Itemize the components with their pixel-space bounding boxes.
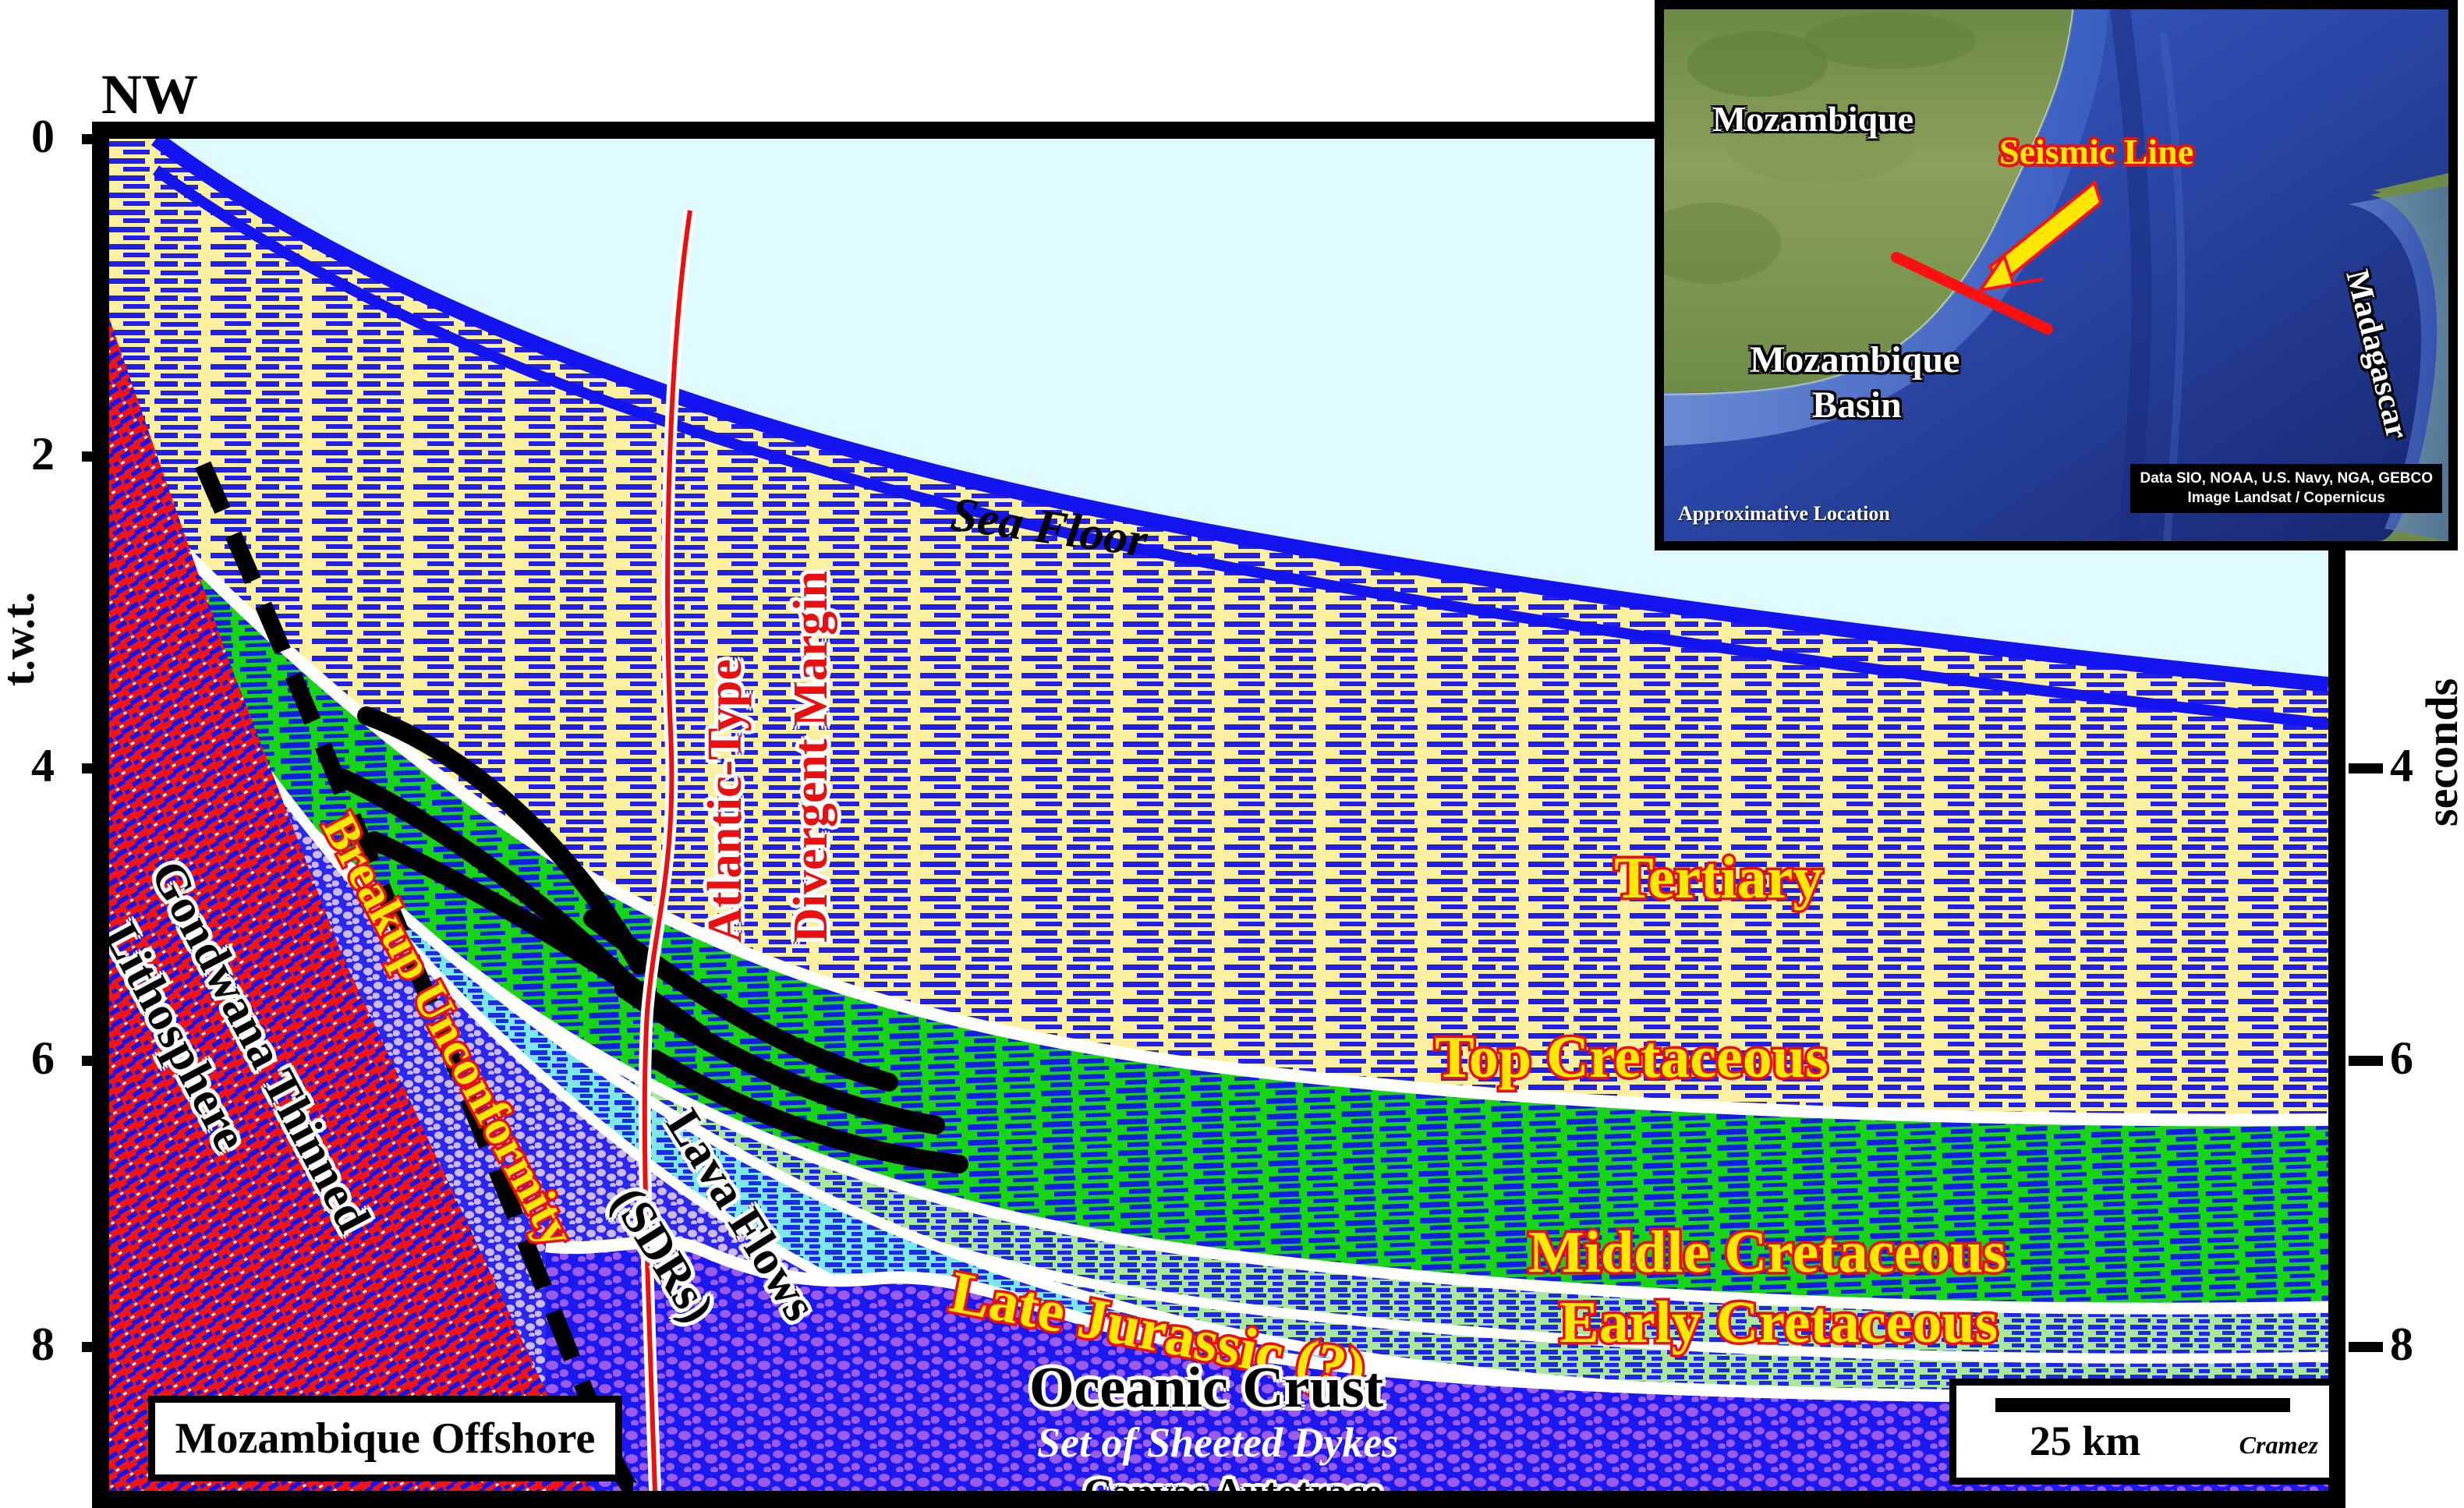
tick-label-right-6: 6 [2390, 1035, 2413, 1081]
map-attribution: Data SIO, NOAA, U.S. Navy, NGA, GEBCO Im… [2130, 464, 2442, 513]
tick-mark-right-4 [2349, 763, 2383, 773]
scale-bar-rule [1995, 1398, 2290, 1412]
tick-label-left-2: 2 [31, 430, 55, 477]
tick-label-left-6: 6 [31, 1035, 55, 1081]
tick-label-left-4: 4 [31, 742, 55, 789]
seismic-figure: NW t.w.t. seconds 0 2 4 6 8 4 6 8 [0, 0, 2464, 1504]
tick-mark-right-6 [2349, 1056, 2383, 1066]
orientation-label-nw: NW [101, 62, 198, 127]
map-label-basin-line2: Basin [1812, 387, 1902, 424]
map-label-basin-line1: Mozambique [1750, 342, 1960, 379]
map-attribution-line2: Image Landsat / Copernicus [2140, 488, 2433, 508]
map-label-seismic-line: Seismic Line [1999, 134, 2193, 170]
tick-label-right-4: 4 [2390, 742, 2413, 789]
inset-location-map[interactable]: Mozambique Seismic Line Mozambique Basin… [1655, 0, 2458, 550]
inset-map-canvas: Mozambique Seismic Line Mozambique Basin… [1664, 9, 2448, 541]
section-title-text: Mozambique Offshore [175, 1414, 596, 1464]
scale-bar-box: 25 km Cramez [1949, 1379, 2336, 1485]
map-label-approximate-location: Approximative Location [1678, 502, 1890, 526]
axis-title-right: seconds [2416, 678, 2464, 827]
tick-label-left-0: 0 [31, 113, 55, 160]
tick-mark-right-8 [2349, 1342, 2383, 1352]
tick-label-left-8: 8 [31, 1321, 55, 1368]
axis-title-left: t.w.t. [0, 592, 44, 686]
author-credit: Cramez [2239, 1431, 2318, 1460]
inset-map-svg [1664, 9, 2448, 541]
tick-label-right-8: 8 [2390, 1321, 2413, 1368]
section-title-box: Mozambique Offshore [148, 1396, 622, 1481]
scale-bar-label: 25 km [1956, 1417, 2214, 1465]
map-attribution-line1: Data SIO, NOAA, U.S. Navy, NGA, GEBCO [2140, 469, 2433, 489]
map-label-mozambique: Mozambique [1712, 101, 1913, 137]
